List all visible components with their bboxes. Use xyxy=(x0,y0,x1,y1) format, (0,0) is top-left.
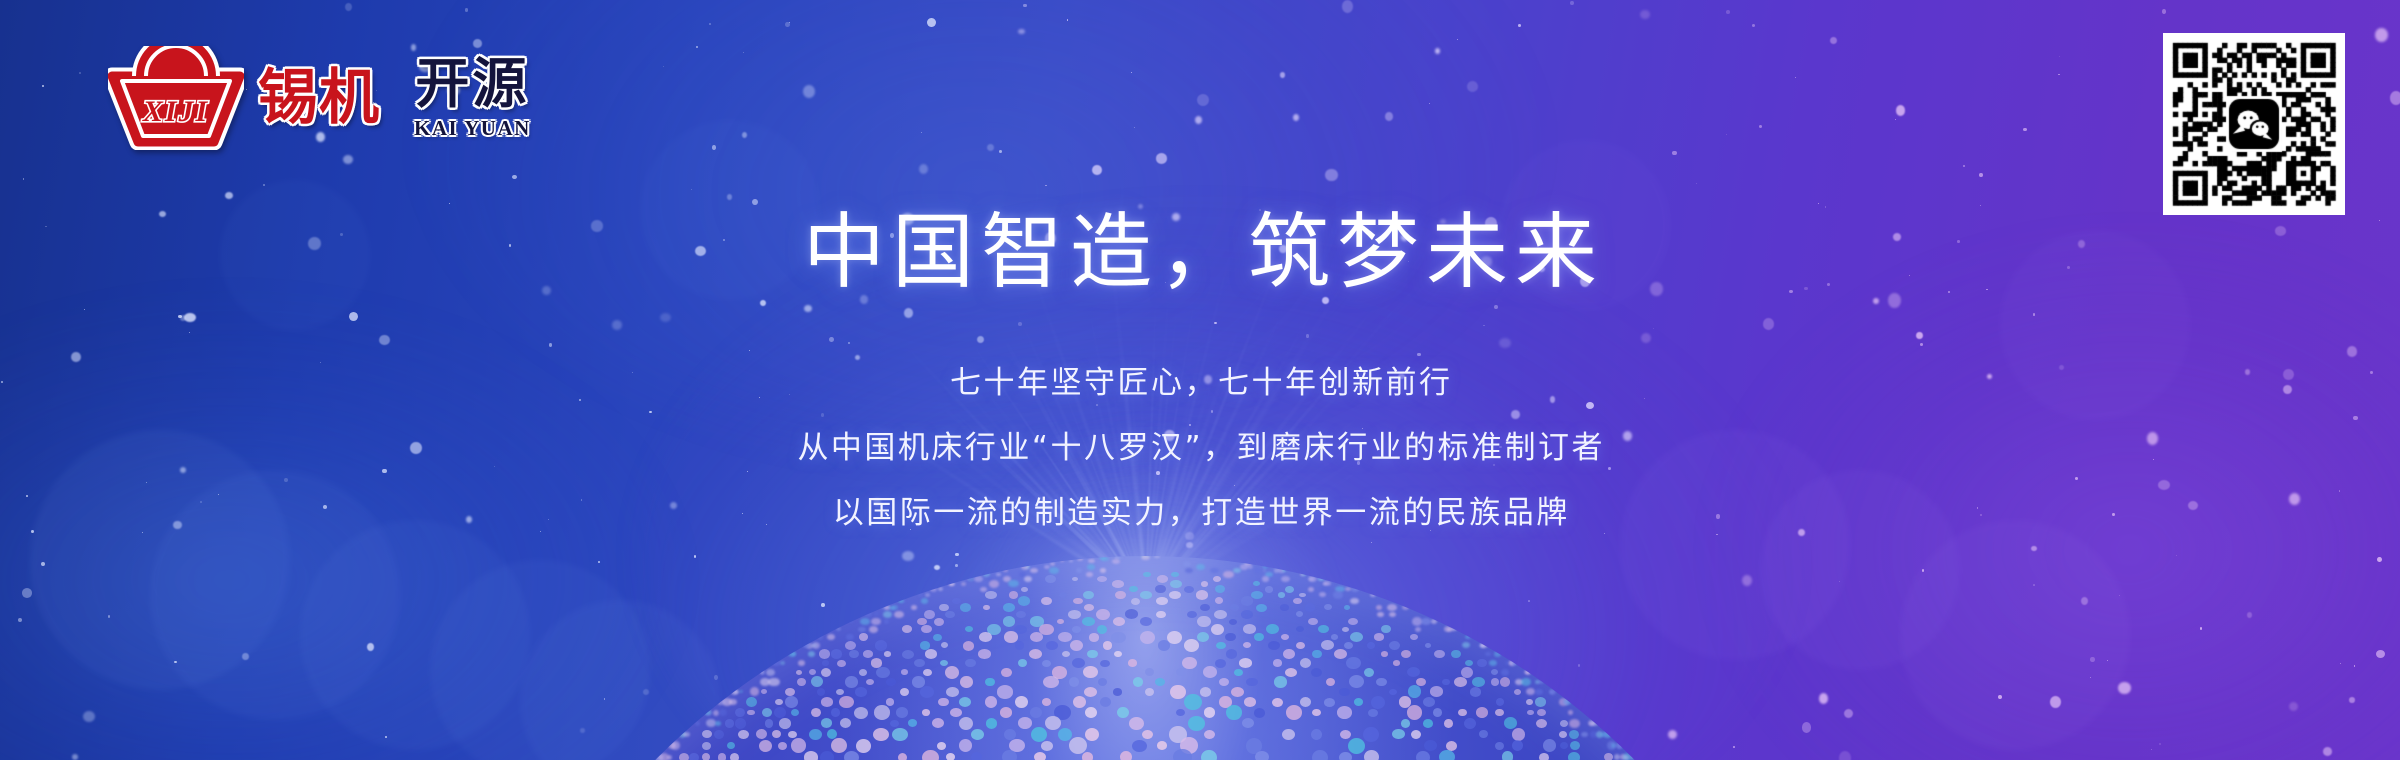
particle-dot xyxy=(41,562,45,566)
particle-dot xyxy=(1189,424,1191,426)
globe-dot xyxy=(1210,568,1219,574)
particle-dot xyxy=(340,233,343,236)
globe-dot xyxy=(874,612,879,616)
globe-dot xyxy=(1158,640,1170,651)
globe-dot xyxy=(1527,710,1534,715)
light-ray xyxy=(1145,293,1292,600)
globe-dot xyxy=(1120,751,1132,760)
particle-dot xyxy=(1,381,3,383)
globe-dot xyxy=(667,755,673,760)
particle-dot xyxy=(1156,153,1168,164)
globe-dot xyxy=(1254,633,1264,642)
globe-dot xyxy=(1505,661,1510,666)
globe-dot xyxy=(1348,618,1359,625)
particle-dot xyxy=(1726,10,1731,15)
particle-dot xyxy=(1204,375,1213,384)
globe-dot xyxy=(780,661,785,666)
globe-dot xyxy=(1411,730,1421,740)
globe-dot xyxy=(1132,740,1147,753)
light-ray xyxy=(1145,273,1200,600)
globe-dot xyxy=(1030,707,1042,718)
globe-dot xyxy=(803,643,810,648)
globe-dot xyxy=(889,606,895,610)
globe-dot xyxy=(968,577,974,582)
globe-dot xyxy=(1501,669,1509,676)
globe-dot xyxy=(1059,592,1068,599)
light-ray xyxy=(1145,207,1242,600)
particle-dot xyxy=(549,343,552,347)
particle-dot xyxy=(921,132,922,133)
bokeh-circle xyxy=(1620,430,1850,660)
globe-dot xyxy=(1614,754,1620,760)
globe-dot xyxy=(1069,560,1073,563)
particle-dot xyxy=(901,213,914,225)
particle-dot xyxy=(22,588,33,598)
globe-dot xyxy=(886,678,897,686)
globe-dot xyxy=(959,697,971,707)
particle-dot xyxy=(1018,29,1025,35)
particle-dot xyxy=(591,220,604,232)
particle-dot xyxy=(2050,696,2061,708)
globe-dot xyxy=(1070,640,1084,652)
globe-dot xyxy=(1062,651,1070,657)
light-ray xyxy=(1145,372,1410,600)
particle-dot xyxy=(1211,410,1214,413)
globe-dot xyxy=(1444,626,1451,632)
globe-dot xyxy=(775,699,783,706)
globe-dot xyxy=(1339,752,1352,760)
globe-dot xyxy=(817,634,823,640)
globe-dot xyxy=(679,731,686,738)
globe-dot xyxy=(1155,678,1165,686)
glow-center xyxy=(640,200,1800,760)
globe-dot xyxy=(1100,568,1106,572)
globe-dot xyxy=(1197,632,1209,643)
particle-dot xyxy=(1789,290,1793,293)
bokeh-circle xyxy=(2000,230,2190,420)
globe-dot xyxy=(1214,610,1227,620)
light-ray xyxy=(1145,280,1157,600)
globe-dot xyxy=(1083,666,1098,678)
globe-dot xyxy=(713,710,719,716)
globe-dot xyxy=(938,698,948,707)
globe-dot xyxy=(1525,670,1531,676)
particle-dot xyxy=(1156,471,1160,475)
particle-dot xyxy=(2151,749,2152,750)
particle-dot xyxy=(752,199,758,205)
globe-dot xyxy=(739,690,743,693)
globe-dot xyxy=(1494,651,1501,656)
subtitle-line-1: 七十年坚守匠心，七十年创新前行 xyxy=(0,368,2400,399)
particle-dot xyxy=(1408,261,1409,262)
globe-dot xyxy=(912,676,925,687)
globe-dot xyxy=(1535,689,1543,696)
globe-dot xyxy=(1103,641,1113,650)
globe-dot xyxy=(1002,750,1017,760)
globe-dot xyxy=(1564,699,1571,705)
globe-dot xyxy=(1097,625,1107,634)
particle-dot xyxy=(712,145,716,150)
globe-dot xyxy=(1184,694,1201,710)
globe-dot xyxy=(945,666,959,679)
particle-dot xyxy=(1499,446,1502,449)
globe-dot xyxy=(730,753,739,760)
globe-dot xyxy=(1272,698,1283,707)
particle-dot xyxy=(999,150,1002,153)
globe-dot xyxy=(715,721,721,727)
globe-dot xyxy=(1203,666,1218,678)
particle-dot xyxy=(1096,404,1098,406)
globe-dot xyxy=(1157,741,1168,750)
globe-dot xyxy=(1140,631,1155,644)
globe-dot xyxy=(1423,719,1433,728)
globe-dot xyxy=(1624,755,1629,760)
light-ray xyxy=(1145,263,1409,600)
globe-dot xyxy=(1180,737,1198,754)
dotted-globe-graphic xyxy=(455,556,1835,760)
particle-dot xyxy=(512,175,517,179)
bokeh-circle xyxy=(1760,470,1960,670)
globe-dot xyxy=(983,572,990,577)
globe-dot xyxy=(1464,718,1477,730)
globe-dot xyxy=(1407,667,1420,677)
globe-dot xyxy=(706,719,716,727)
globe-dot xyxy=(1196,590,1209,600)
globe-dot xyxy=(1293,598,1302,605)
particle-dot xyxy=(1888,293,1901,308)
particle-dot xyxy=(2188,501,2198,511)
particle-dot xyxy=(72,754,78,760)
globe-dot xyxy=(1309,577,1314,581)
globe-dot xyxy=(1115,591,1126,599)
particle-dot xyxy=(1417,353,1421,357)
globe-rim-highlight xyxy=(455,556,1835,760)
globe-dot xyxy=(1296,611,1304,617)
particle-dot xyxy=(670,502,677,509)
globe-dot xyxy=(1176,709,1185,716)
particle-dot xyxy=(709,23,711,25)
particle-dot xyxy=(1197,94,1209,106)
globe-dot xyxy=(1169,591,1181,599)
particle-dot xyxy=(1980,205,1981,206)
particle-dot xyxy=(1818,203,1819,204)
particle-dot xyxy=(1825,206,1826,207)
globe-dot xyxy=(1245,561,1252,566)
globe-dot xyxy=(746,697,757,708)
globe-dot xyxy=(1346,657,1361,670)
globe-dot xyxy=(656,754,664,760)
particle-dot xyxy=(1608,467,1611,471)
globe-dot xyxy=(846,634,853,639)
globe-dot xyxy=(1416,751,1430,760)
particle-dot xyxy=(821,603,825,607)
globe-dot xyxy=(898,599,903,603)
globe-dot xyxy=(812,642,820,649)
particle-dot xyxy=(2031,546,2037,551)
particle-dot xyxy=(1306,334,1310,338)
globe-dot xyxy=(747,710,754,716)
globe-dot xyxy=(1412,617,1423,626)
particle-dot xyxy=(2159,743,2161,745)
globe-dot xyxy=(921,625,932,633)
globe-dot xyxy=(1042,660,1051,667)
particle-dot xyxy=(1752,24,1755,27)
particle-dot xyxy=(1481,256,1493,267)
particle-dot xyxy=(955,553,959,557)
primary-brand-lockup: XIJI 锡机 xyxy=(108,46,380,150)
globe-dot xyxy=(1042,698,1051,706)
globe-dot xyxy=(1280,604,1289,610)
globe-dot xyxy=(735,708,745,717)
particle-dot xyxy=(2059,365,2064,370)
particle-dot xyxy=(804,305,812,312)
particle-dot xyxy=(410,442,422,454)
globe-dot xyxy=(1274,676,1287,687)
globe-dot xyxy=(1616,742,1623,749)
particle-dot xyxy=(2289,493,2300,505)
globe-dot xyxy=(1339,688,1350,697)
particle-dot xyxy=(178,315,182,318)
globe-dot xyxy=(1052,666,1068,679)
globe-dot xyxy=(1243,642,1251,648)
globe-dot xyxy=(985,696,998,708)
globe-dot xyxy=(873,728,889,741)
particle-dot xyxy=(1156,587,1164,597)
globe-dot xyxy=(1601,732,1607,737)
globe-dot xyxy=(924,610,934,619)
globe-dot xyxy=(959,717,973,730)
globe-dot xyxy=(1072,626,1081,633)
globe-dot xyxy=(1526,699,1533,705)
globe-dot xyxy=(985,591,997,599)
globe-dot xyxy=(894,611,904,618)
globe-dot xyxy=(679,753,689,760)
globe-dot xyxy=(1376,678,1386,686)
globe-dot xyxy=(821,718,832,728)
globe-dot xyxy=(1141,556,1149,558)
particle-dot xyxy=(2158,480,2170,490)
globe-dot xyxy=(961,582,966,586)
globe-dot xyxy=(1363,727,1379,743)
globe-dot xyxy=(1140,617,1153,626)
xiji-badge-text: XIJI xyxy=(142,95,209,128)
globe-dot xyxy=(1021,564,1030,570)
globe-dot xyxy=(911,605,917,609)
globe-dot xyxy=(1068,610,1081,619)
globe-dot xyxy=(1399,696,1412,708)
globe-dot xyxy=(806,643,813,649)
globe-dot xyxy=(1226,705,1241,720)
particle-dot xyxy=(1641,333,1651,343)
globe-dot xyxy=(864,611,872,617)
particle-dot xyxy=(189,332,190,333)
particle-dot xyxy=(714,675,718,680)
globe-dot xyxy=(1204,730,1215,740)
particle-dot xyxy=(1742,575,1752,586)
particle-dot xyxy=(2058,74,2059,75)
light-ray xyxy=(961,328,1147,600)
globe-dot xyxy=(1200,687,1211,697)
globe-dot xyxy=(1336,582,1341,586)
particle-dot xyxy=(1830,37,1837,45)
globe-dot xyxy=(996,573,1001,577)
globe-dot xyxy=(1219,678,1229,686)
particle-dot xyxy=(2247,612,2253,618)
globe-dot xyxy=(1101,557,1109,562)
globe-dot xyxy=(1590,731,1597,738)
globe-dot xyxy=(1496,698,1504,705)
globe-dot xyxy=(1100,660,1110,667)
globe-dot xyxy=(840,718,851,728)
globe-dot xyxy=(1244,697,1256,707)
light-ray xyxy=(1145,425,1378,600)
globe-dot xyxy=(1024,576,1032,582)
globe-dot xyxy=(1018,659,1027,667)
globe-dot xyxy=(1231,687,1244,697)
glow-right xyxy=(1720,240,2400,760)
particle-dot xyxy=(1586,402,1595,409)
globe-dot xyxy=(811,676,823,687)
particle-dot xyxy=(2375,28,2388,42)
particle-dot xyxy=(2347,346,2357,356)
globe-dot xyxy=(1003,603,1015,613)
globe-dot xyxy=(1416,678,1426,686)
globe-dot xyxy=(902,625,912,633)
particle-dot xyxy=(1798,529,1805,536)
globe-dot xyxy=(1410,634,1418,640)
sub-brand-name-en: KAI YUAN xyxy=(414,118,531,139)
globe-dot xyxy=(1113,617,1125,626)
globe-dot xyxy=(1323,581,1331,586)
globe-dot xyxy=(1201,750,1217,760)
particle-dot xyxy=(1134,127,1135,128)
particle-dot xyxy=(1307,450,1309,452)
particle-dot xyxy=(218,494,219,495)
globe-dot xyxy=(946,753,955,760)
light-ray xyxy=(837,400,1148,600)
globe-dot xyxy=(1054,705,1072,721)
particle-dot xyxy=(759,397,760,398)
particle-dot xyxy=(494,466,495,467)
globe-dot xyxy=(1025,565,1030,569)
globe-dot xyxy=(1340,730,1351,740)
globe-dot xyxy=(1021,587,1028,592)
globe-dot xyxy=(1611,743,1616,748)
globe-dot xyxy=(1512,728,1526,741)
particle-dot xyxy=(2200,627,2203,630)
particle-dot xyxy=(263,184,265,186)
globe-dot xyxy=(1115,556,1120,559)
particle-dot xyxy=(1896,105,1905,116)
particle-dot xyxy=(1280,72,1286,78)
globe-dot xyxy=(963,641,975,651)
globe-dot xyxy=(809,729,822,740)
company-logo[interactable]: XIJI 锡机 开源 KAI YUAN xyxy=(108,46,531,150)
particle-dot xyxy=(42,85,44,87)
particle-dot xyxy=(79,72,81,74)
globe-dot xyxy=(738,730,749,739)
light-ray xyxy=(1146,409,1431,600)
globe-dot xyxy=(1185,568,1193,573)
globe-dot xyxy=(1043,676,1059,688)
globe-dot xyxy=(702,753,710,760)
globe-dot xyxy=(1319,592,1326,597)
particle-dot xyxy=(977,336,984,343)
globe-dot xyxy=(1034,752,1046,760)
particle-dot xyxy=(1467,81,1478,92)
particle-dot xyxy=(694,555,696,558)
sub-brand-name-cn: 开源 xyxy=(415,57,529,111)
globe-dot xyxy=(921,598,929,603)
globe-dot xyxy=(1342,627,1349,632)
globe-dot xyxy=(845,641,857,651)
particle-dot xyxy=(1795,77,1797,79)
bokeh-circle xyxy=(640,120,820,300)
particle-dot xyxy=(1948,291,1950,293)
particle-dot xyxy=(1279,245,1287,254)
particle-dot xyxy=(83,711,95,722)
globe-dot xyxy=(1112,580,1124,588)
wechat-qr-code[interactable] xyxy=(2163,33,2345,215)
globe-dot xyxy=(1485,652,1491,657)
globe-dot xyxy=(987,624,1001,635)
particle-dot xyxy=(509,244,512,247)
light-ray xyxy=(927,392,1148,600)
globe-dot xyxy=(1263,565,1269,569)
light-ray xyxy=(1009,207,1148,600)
globe-dot xyxy=(722,698,731,706)
globe-dot xyxy=(1350,632,1363,642)
globe-dot xyxy=(1430,686,1444,697)
particle-dot xyxy=(1726,134,1727,135)
globe-dot xyxy=(1509,660,1515,666)
globe-dot xyxy=(1568,710,1574,715)
globe-dot xyxy=(1239,658,1253,668)
globe-dot xyxy=(875,640,888,651)
globe-dot xyxy=(1278,592,1286,598)
globe-dot xyxy=(785,696,798,708)
globe-dot xyxy=(788,731,797,738)
globe-dot xyxy=(1058,632,1071,642)
globe-dot xyxy=(1407,705,1422,720)
particle-dot xyxy=(785,22,790,27)
globe-dot xyxy=(1173,749,1192,760)
globe-dot xyxy=(714,730,724,739)
particle-dot xyxy=(26,495,28,497)
globe-dot xyxy=(917,618,927,625)
globe-dot xyxy=(874,705,890,719)
globe-dot xyxy=(1381,651,1389,657)
bokeh-circle xyxy=(30,430,290,690)
particle-dot xyxy=(2162,9,2166,13)
globe-dot xyxy=(1229,619,1237,625)
globe-dot xyxy=(869,626,878,633)
globe-dot xyxy=(719,709,727,717)
globe-dot xyxy=(1281,634,1289,640)
globe-dot xyxy=(812,644,817,648)
subtitle-line-3: 以国际一流的制造实力，打造世界一流的民族品牌 xyxy=(0,498,2400,529)
globe-dot xyxy=(1041,597,1052,605)
globe-dot xyxy=(1219,696,1232,708)
particle-dot xyxy=(1234,485,1235,486)
particle-dot xyxy=(1401,234,1408,241)
particle-dot xyxy=(632,372,633,373)
globe-dot xyxy=(1045,716,1061,730)
sub-brand-lockup: 开源 KAI YUAN xyxy=(414,57,531,139)
globe-dot xyxy=(1607,741,1616,750)
globe-dot xyxy=(1296,642,1305,649)
particle-dot xyxy=(1022,279,1025,282)
